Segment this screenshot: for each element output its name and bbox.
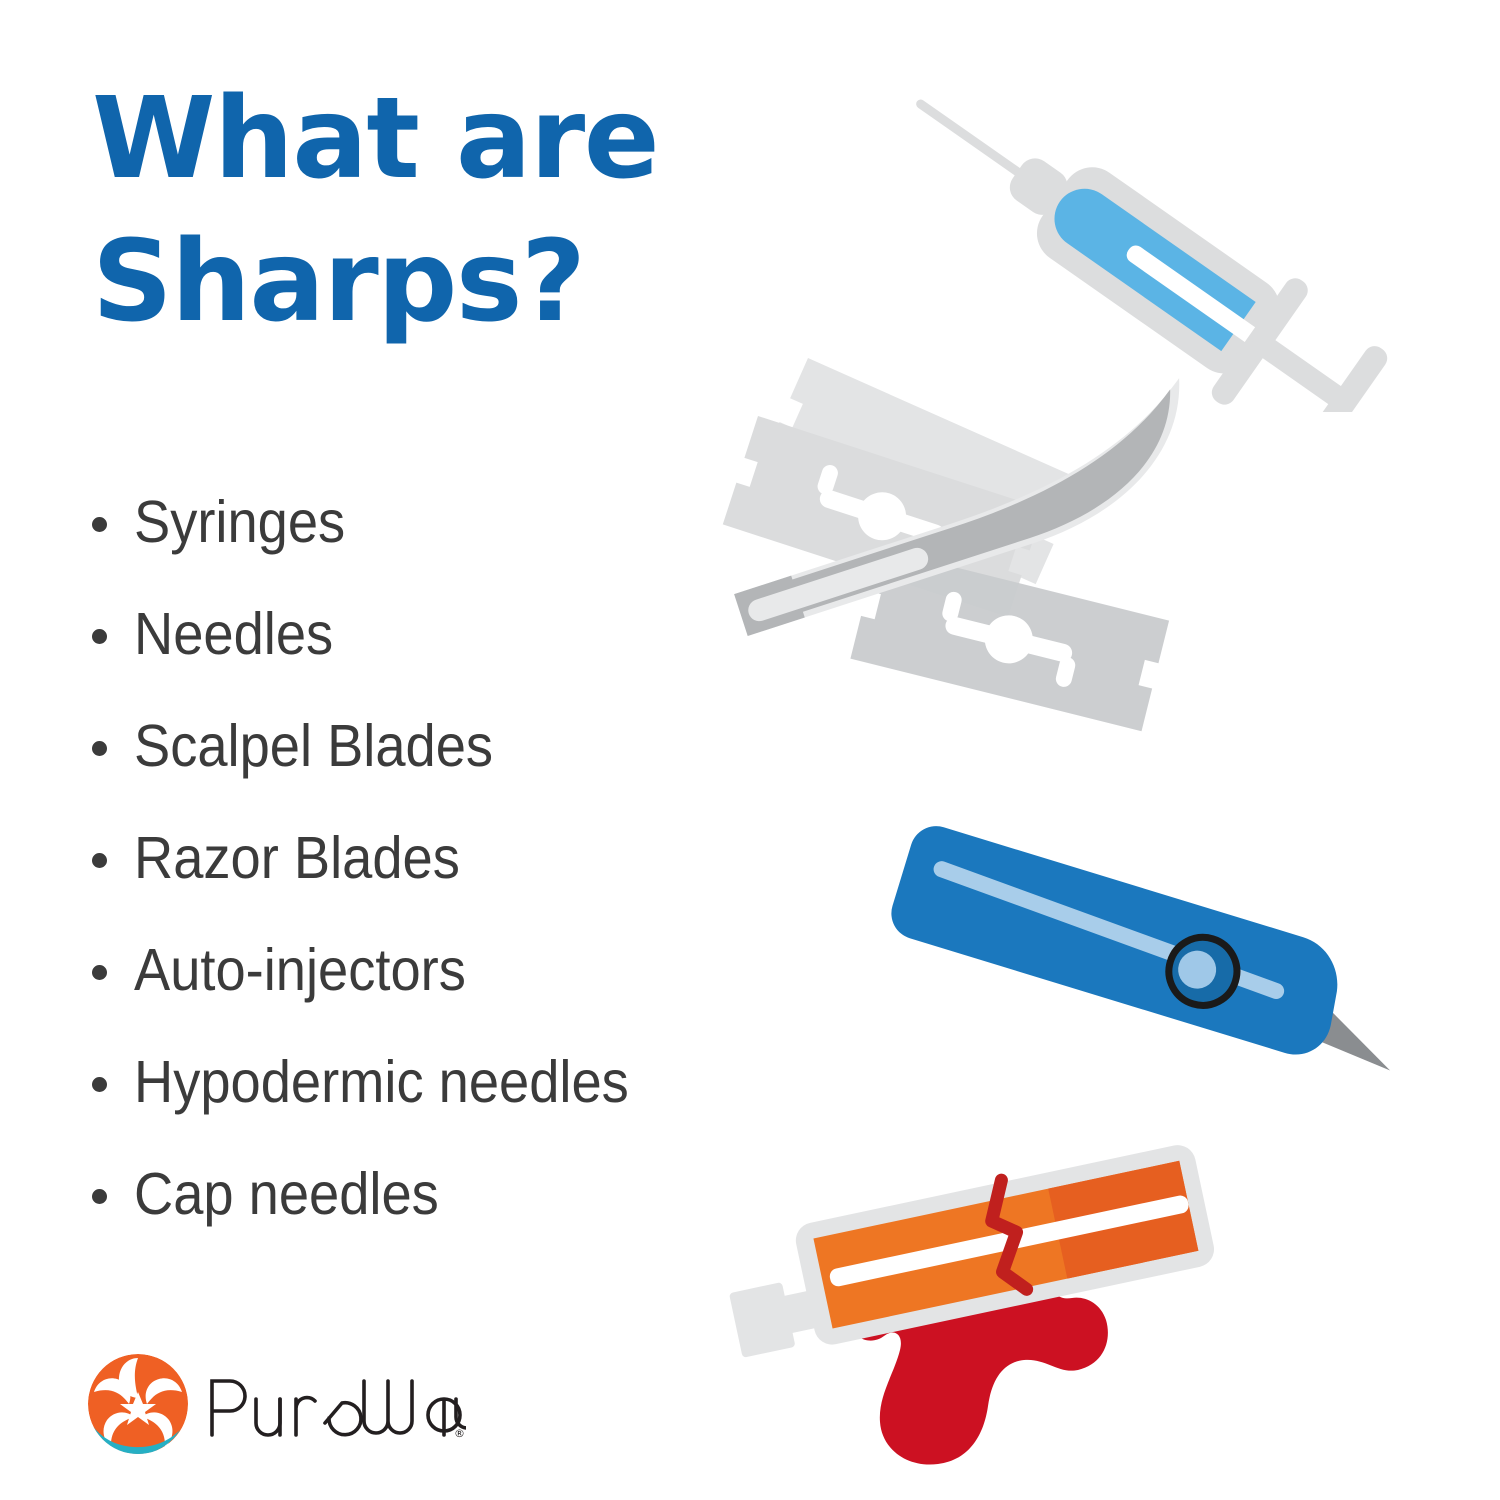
blades-illustration (700, 352, 1260, 792)
infographic-canvas: What are Sharps? Syringes Needles Scalpe… (0, 0, 1500, 1500)
bullet-dot-icon (92, 853, 107, 868)
box-cutter-illustration (852, 800, 1452, 1120)
list-item-label: Hypodermic needles (134, 1053, 629, 1112)
broken-syringe-illustration (712, 1112, 1252, 1492)
list-item-label: Auto-injectors (134, 941, 466, 1000)
list-item-label: Razor Blades (134, 829, 460, 888)
pureway-logo: ® (86, 1352, 466, 1456)
bullet-dot-icon (92, 965, 107, 980)
needle-shaft (921, 104, 1024, 176)
list-item: Auto-injectors (92, 914, 852, 1026)
list-item: Razor Blades (92, 802, 852, 914)
page-title: What are Sharps? (92, 68, 712, 355)
bullet-dot-icon (92, 629, 107, 644)
list-item-label: Syringes (134, 493, 345, 552)
bullet-dot-icon (92, 1189, 107, 1204)
list-item-label: Cap needles (134, 1165, 439, 1224)
pureway-pinwheel-icon (86, 1352, 190, 1456)
bullet-dot-icon (92, 517, 107, 532)
pureway-wordmark: ® (204, 1361, 466, 1447)
bullet-dot-icon (92, 1077, 107, 1092)
registered-trademark-symbol: ® (454, 1427, 465, 1440)
bullet-dot-icon (92, 741, 107, 756)
list-item-label: Scalpel Blades (134, 717, 493, 776)
title-line-2: Sharps? (92, 211, 712, 354)
title-line-1: What are (92, 68, 712, 211)
list-item-label: Needles (134, 605, 333, 664)
